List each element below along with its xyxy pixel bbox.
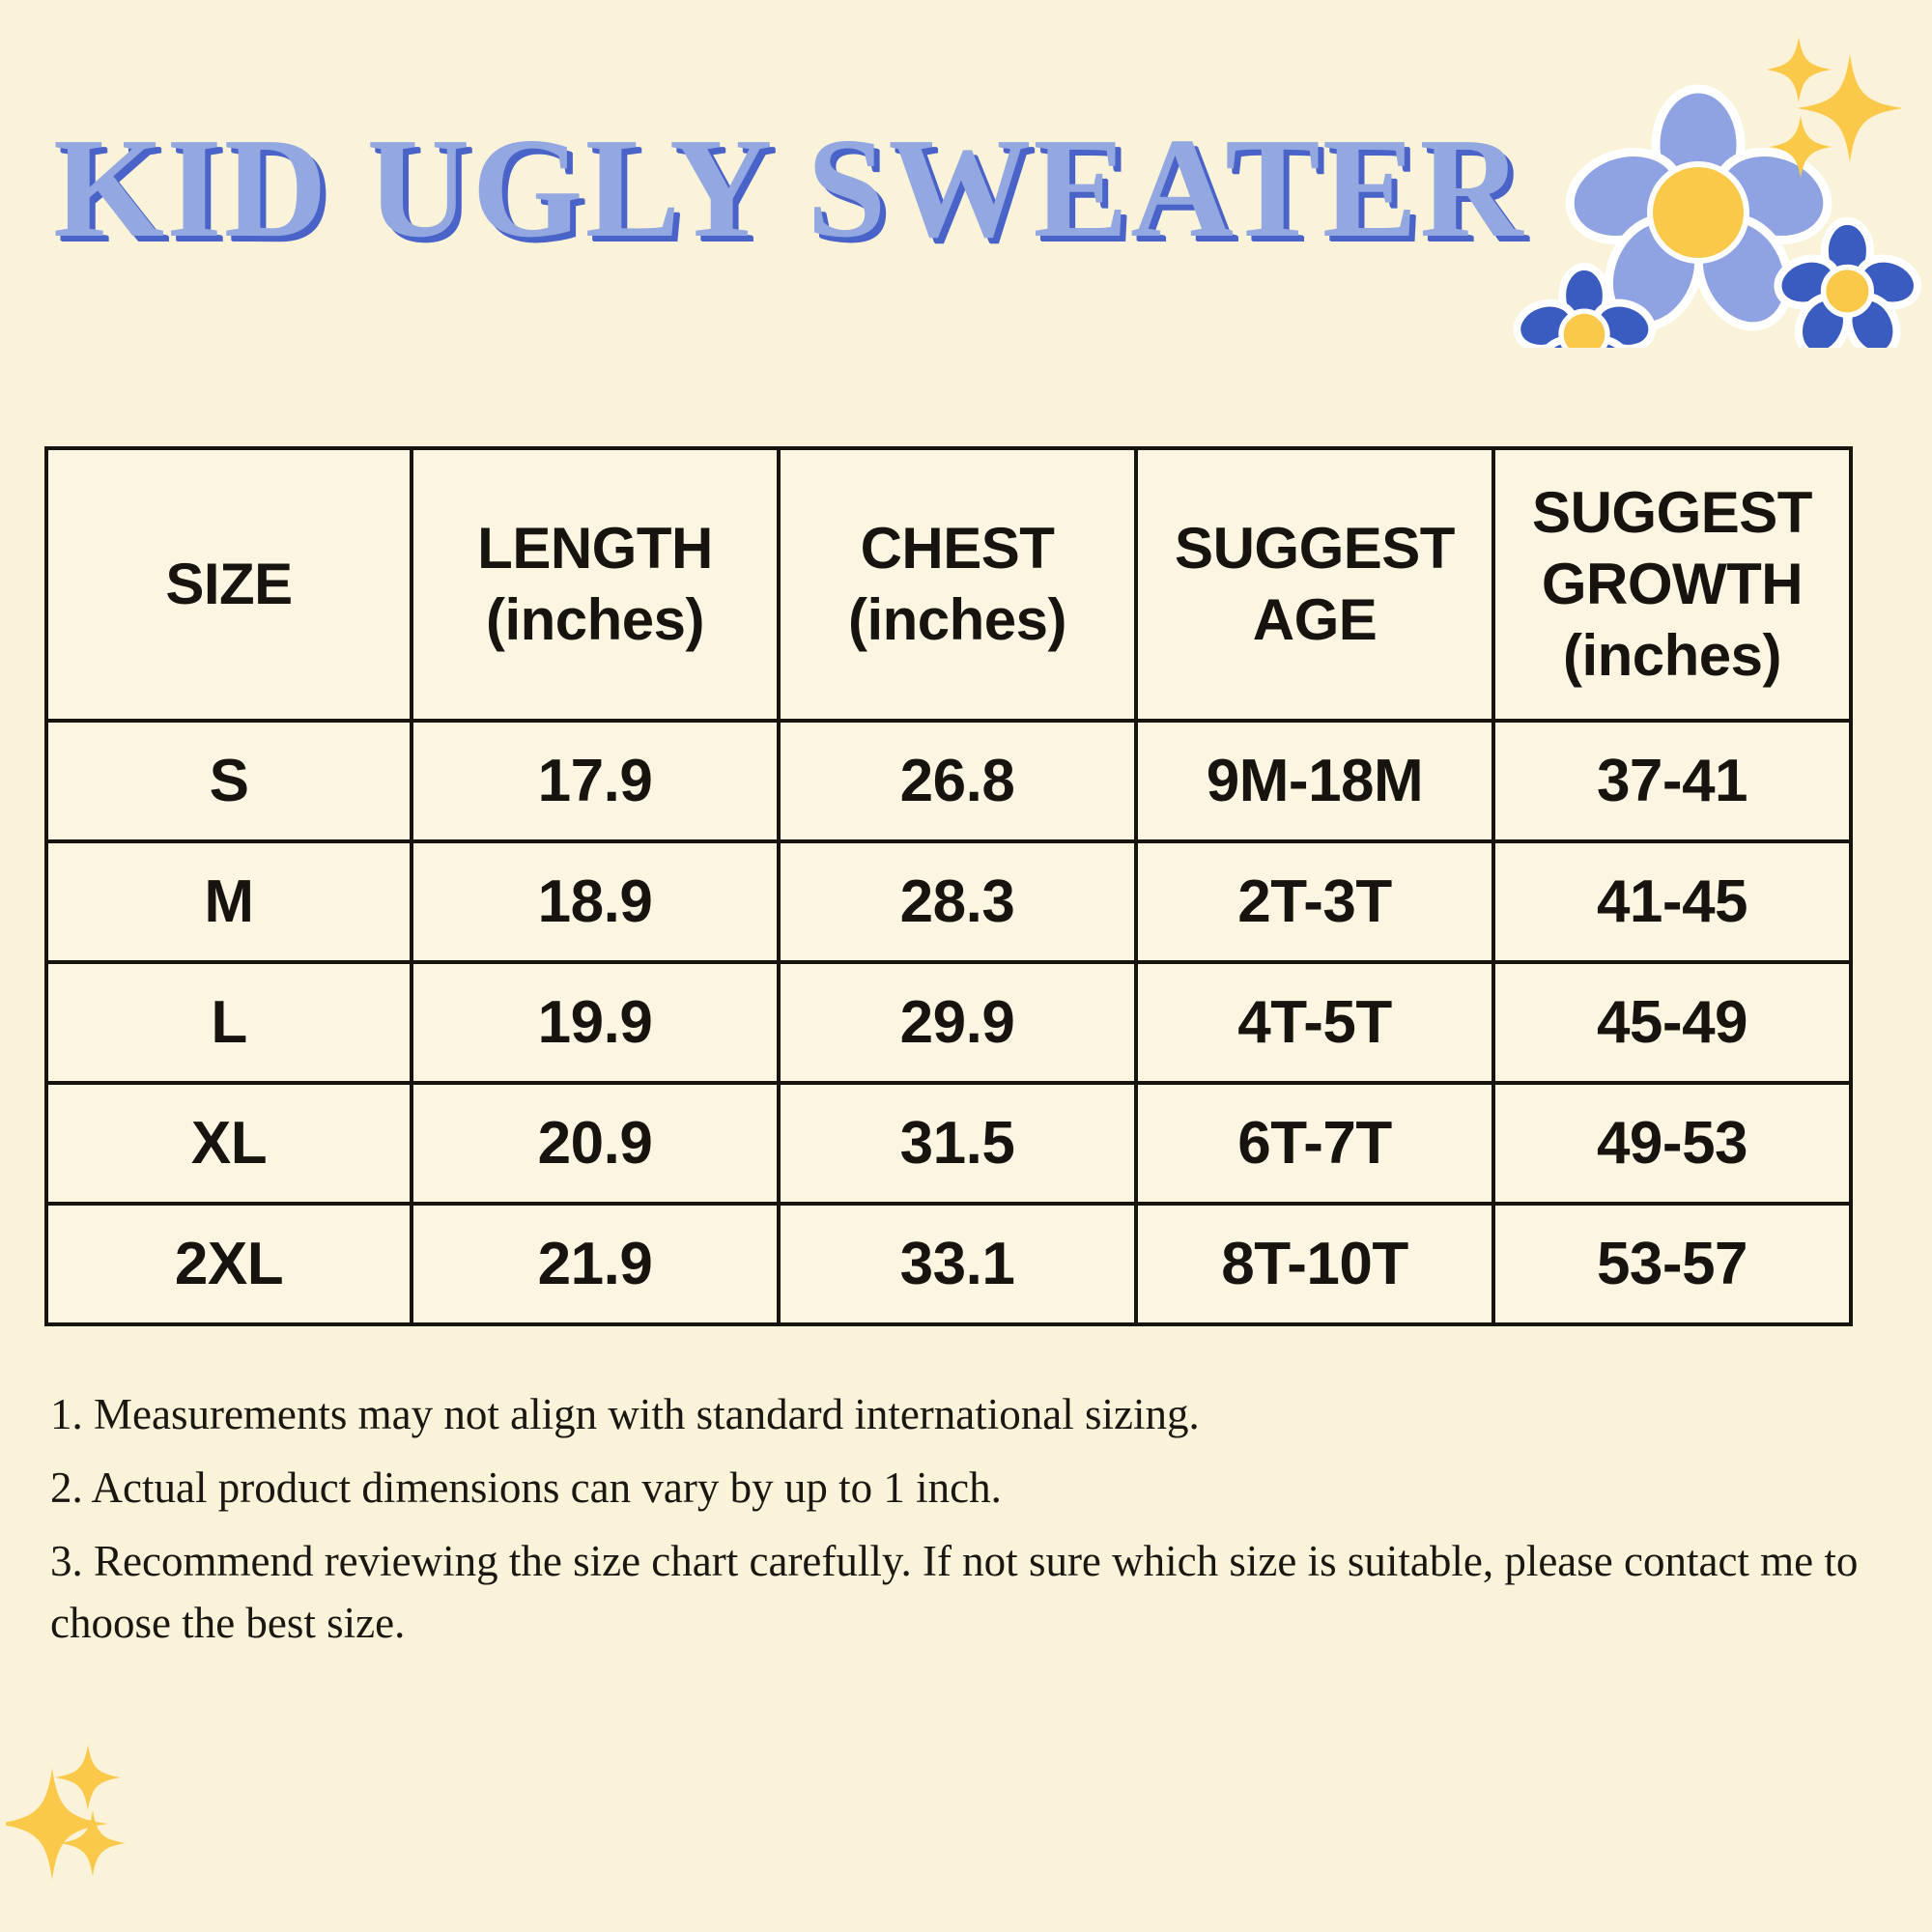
header-line: (inches): [1495, 620, 1849, 692]
column-header-suggest-age: SUGGEST AGE: [1136, 448, 1493, 721]
sparkle-icon: [55, 1745, 121, 1810]
header-line: (inches): [781, 584, 1134, 656]
table-row: XL 20.9 31.5 6T-7T 49-53: [46, 1083, 1851, 1204]
cell-chest: 26.8: [779, 721, 1136, 841]
footnotes: 1. Measurements may not align with stand…: [50, 1383, 1886, 1665]
header-line: (inches): [413, 584, 777, 656]
cell-age: 2T-3T: [1136, 841, 1493, 962]
sparkle-icon: [1766, 37, 1832, 102]
cell-size: M: [46, 841, 412, 962]
cell-length: 17.9: [412, 721, 779, 841]
cell-growth: 37-41: [1493, 721, 1851, 841]
page-title: KID UGLY SWEATER: [53, 116, 1309, 261]
header-line: SUGGEST: [1138, 513, 1492, 584]
table-row: 2XL 21.9 33.1 8T-10T 53-57: [46, 1204, 1851, 1324]
size-chart-table: SIZE LENGTH (inches) CHEST (inches) SUGG…: [44, 446, 1853, 1326]
table-row: S 17.9 26.8 9M-18M 37-41: [46, 721, 1851, 841]
header-line: AGE: [1138, 584, 1492, 656]
column-header-size: SIZE: [46, 448, 412, 721]
footnote-3: 3. Recommend reviewing the size chart ca…: [50, 1530, 1886, 1654]
cell-chest: 29.9: [779, 962, 1136, 1083]
size-chart-page: KID UGLY SWEATER: [0, 0, 1932, 1932]
cell-chest: 31.5: [779, 1083, 1136, 1204]
cell-size: XL: [46, 1083, 412, 1204]
cell-chest: 33.1: [779, 1204, 1136, 1324]
sparkle-cluster-top-right: [1756, 27, 1932, 201]
footnote-2: 2. Actual product dimensions can vary by…: [50, 1457, 1886, 1519]
cell-age: 9M-18M: [1136, 721, 1493, 841]
cell-growth: 45-49: [1493, 962, 1851, 1083]
cell-length: 21.9: [412, 1204, 779, 1324]
header-line: SIZE: [48, 549, 410, 620]
cell-growth: 53-57: [1493, 1204, 1851, 1324]
cell-size: S: [46, 721, 412, 841]
cell-growth: 41-45: [1493, 841, 1851, 962]
cell-length: 20.9: [412, 1083, 779, 1204]
header-line: CHEST: [781, 513, 1134, 584]
cell-growth: 49-53: [1493, 1083, 1851, 1204]
cell-age: 8T-10T: [1136, 1204, 1493, 1324]
page-title-container: KID UGLY SWEATER: [53, 116, 1309, 270]
cell-age: 4T-5T: [1136, 962, 1493, 1083]
column-header-chest: CHEST (inches): [779, 448, 1136, 721]
table-row: L 19.9 29.9 4T-5T 45-49: [46, 962, 1851, 1083]
header-line: GROWTH: [1495, 549, 1849, 620]
cell-size: 2XL: [46, 1204, 412, 1324]
column-header-length: LENGTH (inches): [412, 448, 779, 721]
header-line: SUGGEST: [1495, 477, 1849, 549]
cell-chest: 28.3: [779, 841, 1136, 962]
sparkle-icon: [1770, 116, 1832, 178]
footnote-1: 1. Measurements may not align with stand…: [50, 1383, 1886, 1445]
cell-age: 6T-7T: [1136, 1083, 1493, 1204]
sparkle-cluster-bottom-left: [6, 1731, 199, 1905]
header-line: LENGTH: [413, 513, 777, 584]
table-header-row: SIZE LENGTH (inches) CHEST (inches) SUGG…: [46, 448, 1851, 721]
table-row: M 18.9 28.3 2T-3T 41-45: [46, 841, 1851, 962]
column-header-suggest-growth: SUGGEST GROWTH (inches): [1493, 448, 1851, 721]
cell-length: 19.9: [412, 962, 779, 1083]
cell-size: L: [46, 962, 412, 1083]
cell-length: 18.9: [412, 841, 779, 962]
